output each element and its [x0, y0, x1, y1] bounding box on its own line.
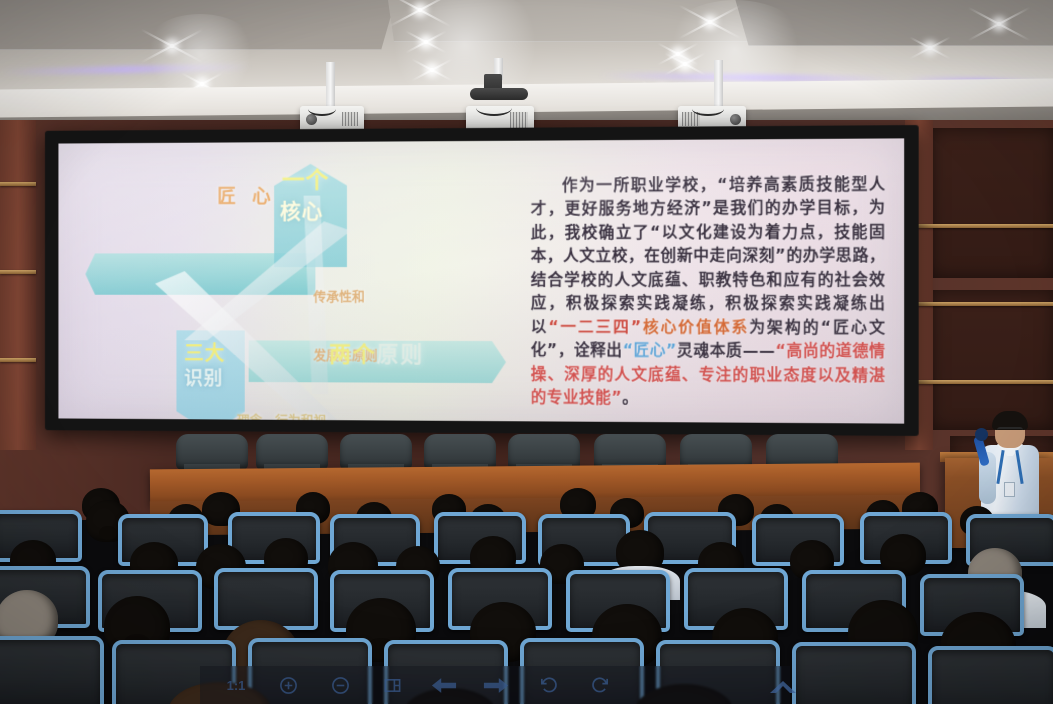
wall-trim — [0, 182, 36, 186]
ceiling-downlight — [170, 44, 174, 48]
projector-right — [678, 60, 746, 134]
para-core-values: 核心价值体系 — [642, 318, 750, 336]
previous-image-button[interactable] — [418, 668, 470, 702]
wall-trim — [906, 302, 1053, 306]
collapse-toolbar-button[interactable] — [766, 672, 800, 702]
diagram-identity-caption: 理念、行为和视 觉识别 — [237, 370, 326, 424]
wall-panel — [930, 128, 1053, 278]
image-viewer-toolbar[interactable]: 1:1 — [200, 666, 790, 704]
arrow-left-icon — [431, 677, 457, 694]
ceiling-downlight — [430, 68, 434, 72]
wall-trim — [906, 224, 1053, 228]
projector-mount-pole — [714, 60, 723, 108]
para-seg-6: 灵魂本质—— — [677, 342, 775, 360]
audience-seat — [928, 646, 1053, 704]
para-quote-1234: “一二三四” — [548, 318, 641, 336]
camera-bar — [470, 88, 528, 100]
ceiling-downlight — [200, 82, 204, 86]
actual-size-button[interactable]: 1:1 — [210, 668, 262, 702]
identity-caption-line1: 理念、行为和视 — [237, 411, 326, 423]
audience-seat — [0, 636, 104, 704]
zoom-out-button[interactable] — [314, 668, 366, 702]
diagram-brand-label: 匠 心 — [217, 186, 275, 208]
wall-panel — [930, 290, 1053, 430]
projection-screen-surface: 匠 心 一个 核心 传承性和 发展性原则 两个原则 三大 识别 理念、行为和视 … — [58, 138, 904, 423]
wall-trim — [906, 380, 1053, 384]
projector-vent — [510, 112, 528, 128]
rotate-left-icon — [539, 676, 558, 695]
zoom-in-icon — [279, 676, 298, 695]
fit-to-window-button[interactable] — [366, 668, 418, 702]
ceiling-downlight — [708, 20, 712, 24]
ceiling-downlight — [997, 22, 1001, 26]
next-image-button[interactable] — [470, 668, 522, 702]
para-seg-1: 作为一所职业学校，“培养高素质技能型人才，更好服务地方经济”是我们的办学目标，为… — [531, 175, 886, 336]
glasses-icon — [997, 427, 1023, 433]
microphone-head — [975, 428, 988, 441]
zoom-in-button[interactable] — [262, 668, 314, 702]
projector-cable — [692, 102, 724, 116]
projector-cable — [476, 100, 512, 116]
slide-paragraph: 作为一所职业学校，“培养高素质技能型人才，更好服务地方经济”是我们的办学目标，为… — [531, 173, 886, 413]
zoom-out-icon — [331, 676, 350, 695]
stage-chair — [176, 434, 248, 470]
diagram-identity-top: 三大 — [184, 342, 225, 365]
ceiling-downlight — [928, 46, 932, 50]
wall-trim — [0, 270, 36, 274]
rotate-right-icon — [591, 676, 610, 695]
projector-center — [466, 58, 534, 134]
stage-chair — [340, 434, 412, 470]
slide-diagram: 匠 心 一个 核心 传承性和 发展性原则 两个原则 三大 识别 理念、行为和视 … — [58, 141, 524, 422]
slide-body-text: 作为一所职业学校，“培养高素质技能型人才，更好服务地方经济”是我们的办学目标，为… — [525, 153, 896, 421]
para-seg-8: 。 — [622, 389, 638, 407]
chevron-up-icon — [770, 679, 796, 695]
stage-chair — [508, 434, 580, 470]
ceiling-downlight — [424, 40, 428, 44]
projector-vent — [342, 112, 358, 126]
projector-cable — [308, 102, 336, 116]
projector-mount-pole — [326, 62, 335, 108]
ceiling-downlight — [676, 52, 680, 56]
projection-screen-frame: 匠 心 一个 核心 传承性和 发展性原则 两个原则 三大 识别 理念、行为和视 … — [45, 125, 919, 436]
ceiling-downlight — [418, 8, 422, 12]
rotate-right-button[interactable] — [574, 668, 626, 702]
rotate-left-button[interactable] — [522, 668, 574, 702]
diagram-identity-bottom: 识别 — [184, 368, 223, 390]
audience-seat — [792, 642, 916, 704]
actual-size-label: 1:1 — [227, 678, 246, 693]
stage-chair — [256, 434, 328, 470]
screenshot-root: 匠 心 一个 核心 传承性和 发展性原则 两个原则 三大 识别 理念、行为和视 … — [0, 0, 1053, 704]
projector-lens — [730, 114, 741, 125]
diagram-principle-label: 两个原则 — [329, 343, 424, 369]
diagram-core-top: 一个 — [282, 168, 329, 195]
principle-rest: 原则 — [377, 343, 425, 368]
wall-trim — [0, 358, 36, 362]
stage-chair — [424, 434, 496, 470]
fit-window-icon — [383, 676, 402, 695]
diagram-core-bottom: 核心 — [280, 200, 323, 225]
arrow-right-icon — [483, 677, 509, 694]
para-jiangxin-quote: “匠心” — [623, 342, 677, 360]
projector-lens — [306, 114, 317, 125]
wall-pillar — [0, 120, 36, 450]
projector-left — [300, 62, 364, 132]
principle-caption-line1: 传承性和 — [313, 288, 377, 307]
principle-highlight: 两个 — [329, 343, 376, 368]
